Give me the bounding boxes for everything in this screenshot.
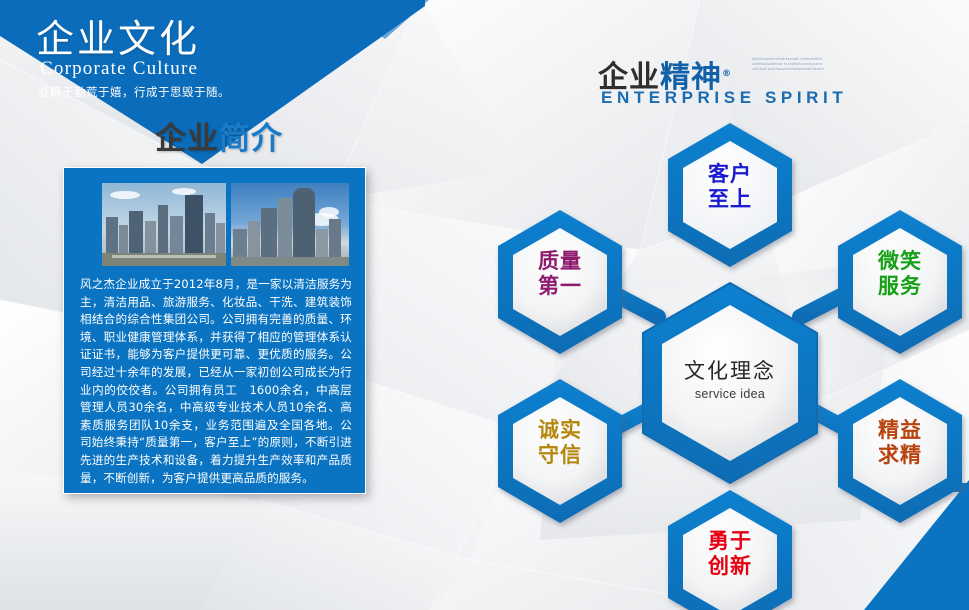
hex-center-label-cn: 文化理念 [640, 355, 820, 385]
hex-smile-service[interactable] [838, 210, 962, 354]
company-intro-heading-dark: 企业 [155, 121, 219, 157]
hex-customer-first[interactable] [668, 123, 792, 267]
registered-mark-icon: ® [722, 69, 732, 79]
company-intro-heading: 企业简介 [155, 113, 283, 158]
company-intro-card: 风之杰企业成立于2012年8月，是一家以清洁服务为主，清洁用品、旅游服务、化妆品… [63, 167, 366, 494]
hex-excellence[interactable] [838, 379, 962, 523]
skyscraper-photo [231, 183, 349, 266]
banner-title-cn: 企业文化 [36, 18, 200, 62]
company-intro-body: 风之杰企业成立于2012年8月，是一家以清洁服务为主，清洁用品、旅游服务、化妆品… [80, 276, 352, 487]
poster-canvas: 企业文化 Corporate Culture 业精于勤荒于嬉，行成于思毁于随。 … [0, 0, 969, 610]
city-skyline-photo [102, 183, 226, 266]
culture-hexagon-diagram: 文化理念 service idea 客户 至上 微笑 服务 精益 求精 勇于 创… [490, 105, 969, 610]
banner-title-en: Corporate Culture [40, 58, 198, 80]
hex-innovation[interactable] [668, 490, 792, 610]
hex-integrity[interactable] [498, 379, 622, 523]
photo-strip [102, 183, 349, 266]
decorative-microtext: dfjkdlsaiewhldlkdslksnsdkl dlfdhsdlfdlsi… [752, 57, 824, 72]
banner-motto: 业精于勤荒于嬉，行成于思毁于随。 [38, 84, 230, 100]
hex-center-label-en: service idea [640, 387, 820, 401]
hex-quality-first[interactable] [498, 210, 622, 354]
company-intro-heading-blue: 简介 [219, 121, 283, 157]
